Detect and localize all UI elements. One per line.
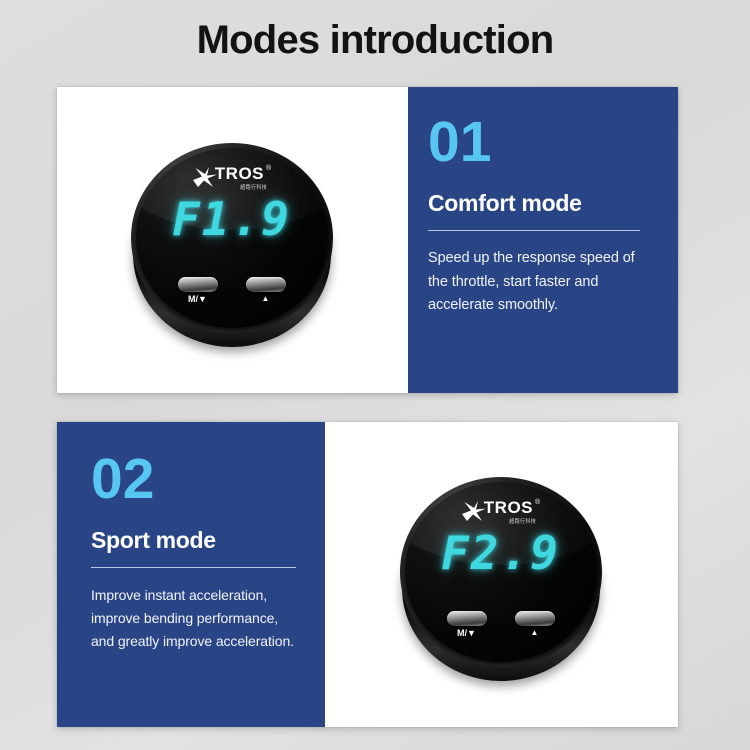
up-button-cap[interactable]	[246, 277, 286, 292]
registered-mark-icon: ®	[266, 165, 271, 172]
mode-description: Improve instant acceleration, improve be…	[91, 584, 303, 652]
device-image-pane-2: TROS ® 超跑行科技 F2.9 M/▼ ▲	[325, 422, 678, 727]
device-face: TROS ® 超跑行科技 F2.9 M/▼ ▲	[405, 482, 597, 662]
device-face: TROS ® 超跑行科技 F1.9 M/▼ ▲	[136, 148, 328, 328]
brand-logo: TROS ® 超跑行科技	[405, 499, 597, 525]
brand-word: TROS	[484, 499, 533, 516]
divider	[91, 567, 296, 568]
brand-main-line: TROS ®	[484, 499, 540, 516]
brand-text-wrap: TROS ® 超跑行科技	[484, 499, 540, 525]
divider	[428, 230, 640, 231]
brand-main-line: TROS ®	[215, 165, 271, 182]
device-button-mode[interactable]: M/▼	[447, 611, 487, 638]
mode-description: Speed up the response speed of the throt…	[428, 247, 656, 317]
brand-logo: TROS ® 超跑行科技	[136, 165, 328, 191]
up-button-cap[interactable]	[515, 611, 555, 626]
mode-number: 02	[91, 452, 303, 506]
mode-button-label: M/▼	[188, 295, 207, 304]
brand-subtitle: 超跑行科技	[240, 183, 267, 191]
mode-info-pane-1: 01 Comfort mode Speed up the response sp…	[408, 87, 678, 393]
brand-word: TROS	[215, 165, 264, 182]
device-button-up[interactable]: ▲	[515, 611, 555, 638]
page-title: Modes introduction	[0, 16, 750, 64]
device-button-row: M/▼ ▲	[136, 277, 328, 304]
device-button-row: M/▼ ▲	[405, 611, 597, 638]
mode-button-cap[interactable]	[447, 611, 487, 626]
mode-card-comfort: TROS ® 超跑行科技 F1.9 M/▼ ▲	[57, 87, 678, 393]
up-button-label: ▲	[262, 295, 270, 303]
mode-info-pane-2: 02 Sport mode Improve instant accelerati…	[57, 422, 325, 727]
lcd-display-value: F1.9	[136, 196, 328, 242]
mode-name: Sport mode	[91, 528, 303, 553]
mode-button-cap[interactable]	[178, 277, 218, 292]
device-image-pane-1: TROS ® 超跑行科技 F1.9 M/▼ ▲	[57, 87, 408, 393]
device-button-up[interactable]: ▲	[246, 277, 286, 304]
mode-button-label: M/▼	[457, 629, 476, 638]
device-button-mode[interactable]: M/▼	[178, 277, 218, 304]
lcd-display-value: F2.9	[405, 530, 597, 576]
mode-name: Comfort mode	[428, 191, 656, 216]
brand-subtitle: 超跑行科技	[509, 518, 536, 526]
registered-mark-icon: ®	[535, 499, 540, 506]
mode-number: 01	[428, 115, 656, 169]
throttle-controller-device-1: TROS ® 超跑行科技 F1.9 M/▼ ▲	[128, 133, 338, 348]
up-button-label: ▲	[531, 629, 539, 637]
brand-text-wrap: TROS ® 超跑行科技	[215, 165, 271, 191]
throttle-controller-device-2: TROS ® 超跑行科技 F2.9 M/▼ ▲	[397, 467, 607, 682]
mode-card-sport: 02 Sport mode Improve instant accelerati…	[57, 422, 678, 727]
